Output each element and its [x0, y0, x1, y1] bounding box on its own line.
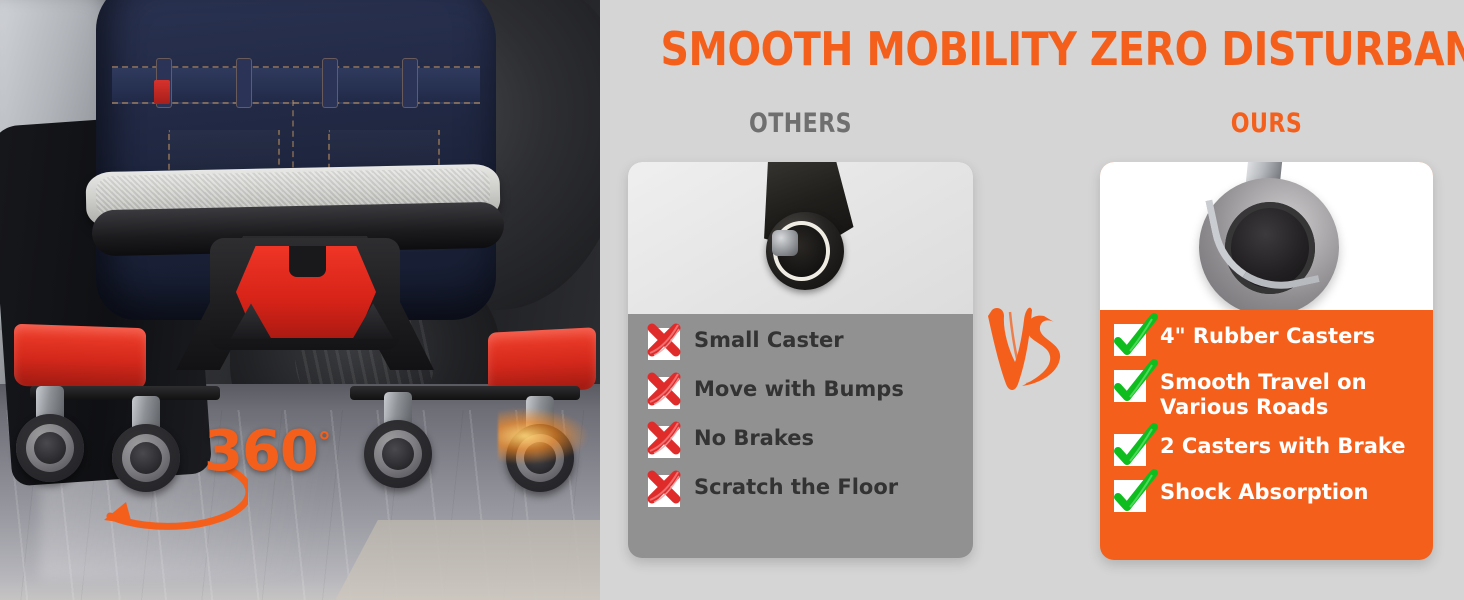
360-degree-badge: 360°	[204, 424, 330, 480]
others-caster-photo	[628, 162, 973, 314]
others-feature-list: Small Caster Move with Bumps	[628, 314, 973, 534]
360-badge-value: 360	[204, 419, 318, 484]
green-check-icon	[1114, 370, 1146, 402]
column-title-others: OTHERS	[659, 108, 942, 139]
list-item-label: Shock Absorption	[1160, 480, 1368, 505]
list-item-label: 4" Rubber Casters	[1160, 324, 1375, 349]
green-check-icon	[1114, 434, 1146, 466]
vs-divider-icon	[982, 300, 1066, 396]
ours-card: 4" Rubber Casters Smooth Travel on Vario…	[1100, 162, 1433, 560]
motion-spark	[498, 408, 588, 464]
list-item: Move with Bumps	[648, 377, 973, 409]
green-check-icon	[1114, 480, 1146, 512]
brand-tag	[154, 80, 170, 104]
rubber-caster-with-brake	[1167, 162, 1367, 310]
list-item: Smooth Travel on Various Roads	[1114, 370, 1433, 420]
red-cross-icon	[648, 377, 680, 409]
product-comparison-infographic: 360° SMOOTH MOBILITY ZERO DISTURBANCE OT…	[0, 0, 1464, 600]
list-item-label: Scratch the Floor	[694, 475, 898, 500]
list-item: 2 Casters with Brake	[1114, 434, 1433, 466]
others-card: Small Caster Move with Bumps	[628, 162, 973, 558]
degree-symbol: °	[318, 427, 330, 457]
headline: SMOOTH MOBILITY ZERO DISTURBANCE	[660, 26, 1403, 72]
red-cross-icon	[648, 475, 680, 507]
green-check-icon	[1114, 324, 1146, 356]
list-item: Shock Absorption	[1114, 480, 1433, 512]
ours-caster-photo	[1100, 162, 1433, 310]
list-item-label: Smooth Travel on Various Roads	[1160, 370, 1410, 420]
caster-rear-left	[364, 392, 432, 488]
list-item-label: 2 Casters with Brake	[1160, 434, 1406, 459]
red-cross-icon	[648, 328, 680, 360]
list-item-label: Small Caster	[694, 328, 844, 353]
list-item: Small Caster	[648, 328, 973, 360]
list-item: Scratch the Floor	[648, 475, 973, 507]
list-item: 4" Rubber Casters	[1114, 324, 1433, 356]
ours-feature-list: 4" Rubber Casters Smooth Travel on Vario…	[1100, 310, 1433, 536]
column-title-ours: OURS	[1130, 108, 1403, 139]
tool-tray-right	[488, 327, 596, 395]
product-photo: 360°	[0, 0, 600, 600]
list-item-label: No Brakes	[694, 426, 814, 451]
list-item-label: Move with Bumps	[694, 377, 904, 402]
list-item: No Brakes	[648, 426, 973, 458]
small-black-caster	[716, 162, 886, 306]
tool-tray-left	[14, 324, 146, 391]
red-cross-icon	[648, 426, 680, 458]
